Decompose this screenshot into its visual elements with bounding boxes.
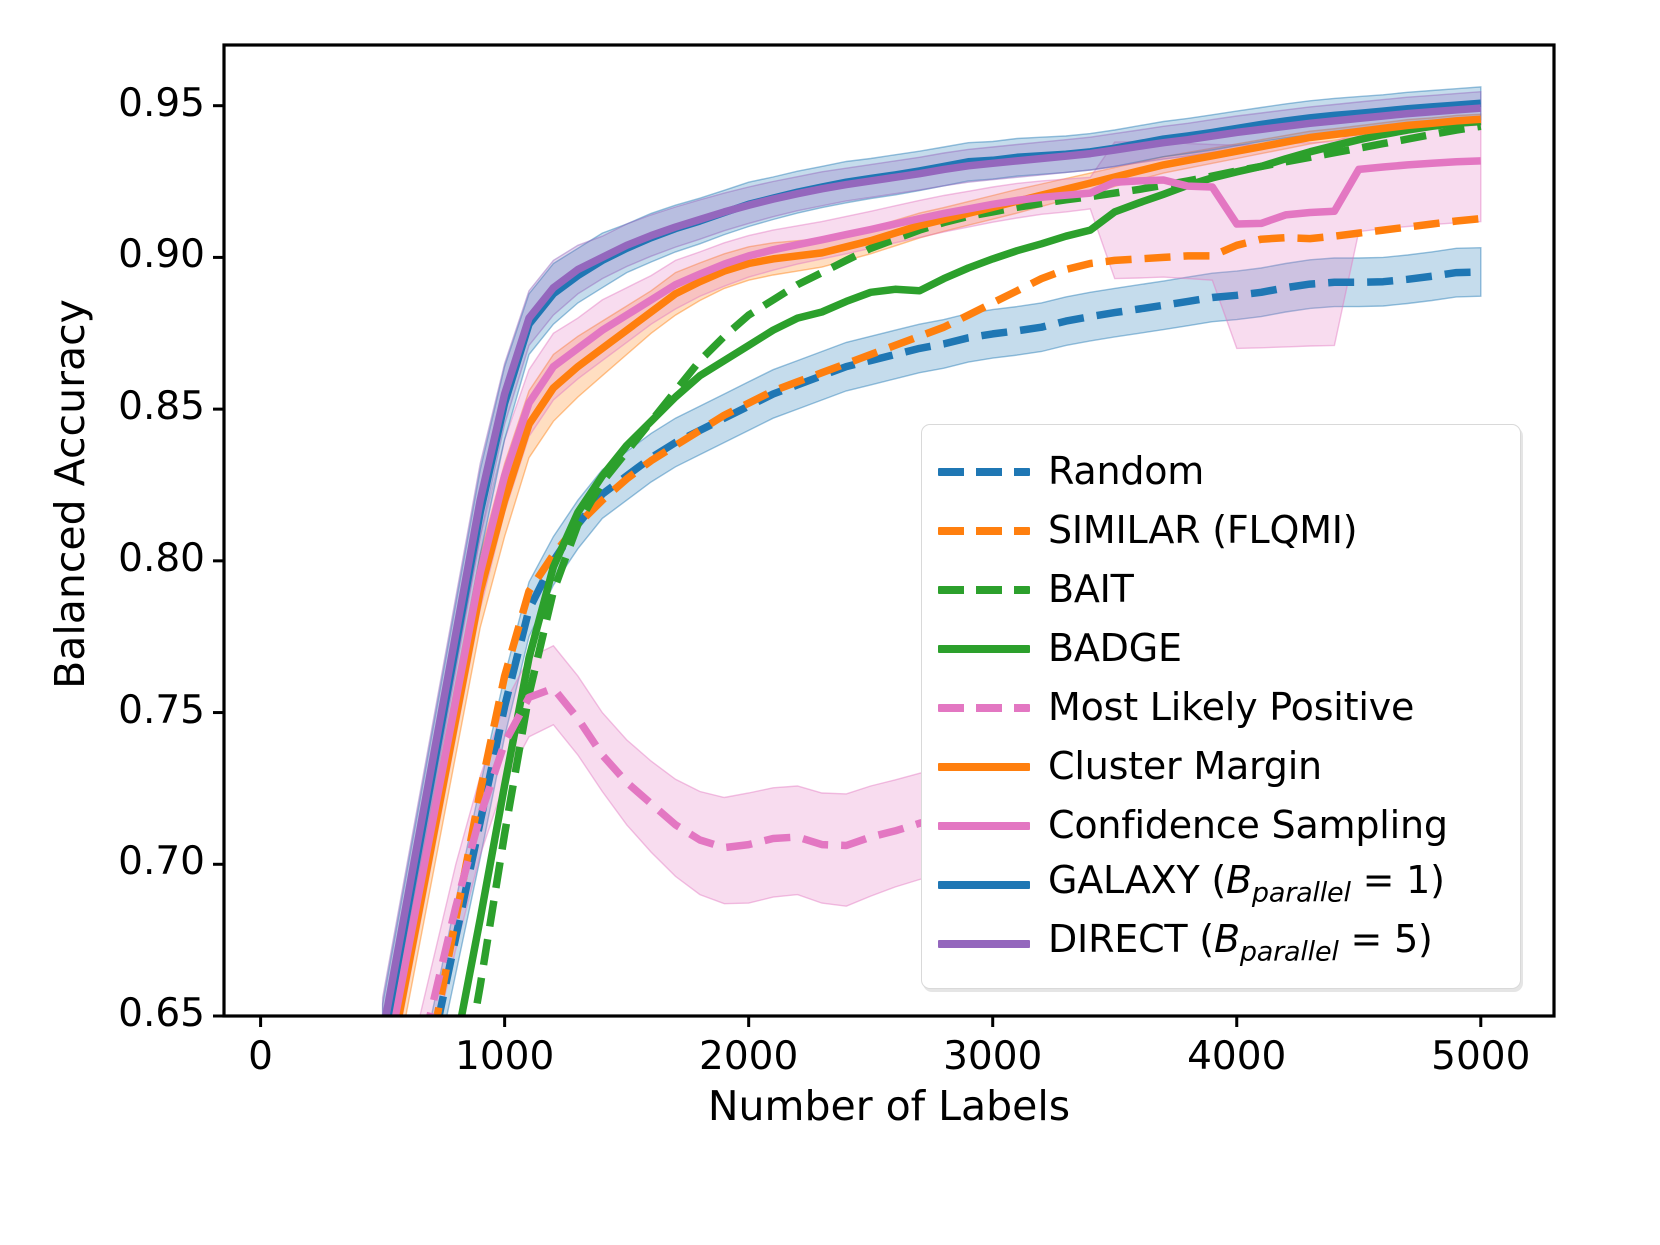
legend-label: Confidence Sampling xyxy=(1048,803,1448,847)
legend-swatch-icon xyxy=(938,511,1030,549)
legend-label: Cluster Margin xyxy=(1048,744,1322,788)
legend-swatch-icon xyxy=(938,747,1030,785)
legend-item-0[interactable]: Random xyxy=(938,441,1502,500)
legend-swatch-icon xyxy=(938,452,1030,490)
legend-item-5[interactable]: Cluster Margin xyxy=(938,736,1502,795)
legend-item-4[interactable]: Most Likely Positive xyxy=(938,677,1502,736)
legend-swatch-icon xyxy=(938,688,1030,726)
legend-swatch-icon xyxy=(938,629,1030,667)
legend-label: Random xyxy=(1048,449,1204,493)
legend-item-6[interactable]: Confidence Sampling xyxy=(938,795,1502,854)
legend-label: SIMILAR (FLQMI) xyxy=(1048,508,1357,552)
x-tick-label: 1000 xyxy=(405,1034,605,1079)
legend-swatch-icon xyxy=(938,806,1030,844)
legend-item-7[interactable]: GALAXY (Bparallel = 1) xyxy=(938,854,1502,913)
y-tick-label: 0.75 xyxy=(45,688,205,733)
legend[interactable]: RandomSIMILAR (FLQMI)BAITBADGEMost Likel… xyxy=(921,424,1521,989)
x-tick-label: 2000 xyxy=(649,1034,849,1079)
legend-label: BADGE xyxy=(1048,626,1182,670)
y-tick-label: 0.95 xyxy=(45,81,205,126)
legend-item-3[interactable]: BADGE xyxy=(938,618,1502,677)
legend-label: GALAXY (Bparallel = 1) xyxy=(1048,858,1445,909)
y-tick-label: 0.80 xyxy=(45,536,205,581)
legend-item-1[interactable]: SIMILAR (FLQMI) xyxy=(938,500,1502,559)
legend-label: Most Likely Positive xyxy=(1048,685,1414,729)
legend-swatch-icon xyxy=(938,570,1030,608)
x-tick-label: 5000 xyxy=(1381,1034,1581,1079)
legend-item-2[interactable]: BAIT xyxy=(938,559,1502,618)
legend-swatch-icon xyxy=(938,924,1030,962)
x-tick-label: 0 xyxy=(161,1034,361,1079)
legend-swatch-icon xyxy=(938,865,1030,903)
x-tick-label: 3000 xyxy=(893,1034,1093,1079)
legend-label: BAIT xyxy=(1048,567,1134,611)
y-tick-label: 0.90 xyxy=(45,232,205,277)
y-tick-label: 0.70 xyxy=(45,839,205,884)
legend-label: DIRECT (Bparallel = 5) xyxy=(1048,917,1433,968)
y-tick-label: 0.85 xyxy=(45,384,205,429)
legend-item-8[interactable]: DIRECT (Bparallel = 5) xyxy=(938,913,1502,972)
figure: Balanced Accuracy Number of Labels 0.650… xyxy=(0,0,1660,1245)
x-tick-label: 4000 xyxy=(1137,1034,1337,1079)
y-tick-label: 0.65 xyxy=(45,991,205,1036)
